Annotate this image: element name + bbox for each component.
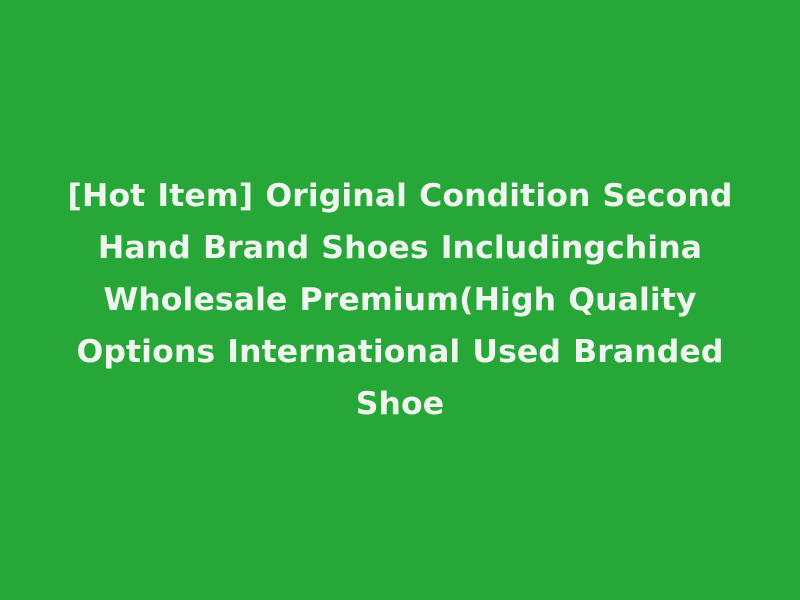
title-block: [Hot Item] Original Condition Second Han… [50,170,750,430]
product-title-card: [Hot Item] Original Condition Second Han… [0,0,800,600]
page-title: [Hot Item] Original Condition Second Han… [60,170,740,430]
